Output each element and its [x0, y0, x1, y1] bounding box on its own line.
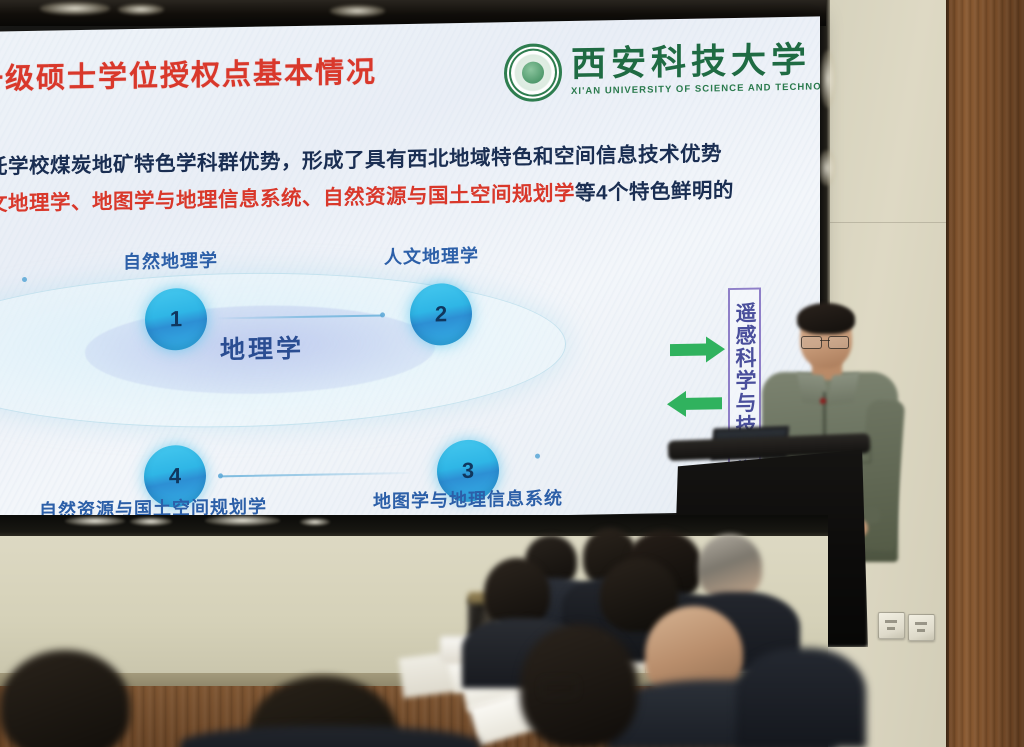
audience-glasses-icon	[540, 678, 578, 698]
slide-body-highlight: 人文地理学、地图学与地理信息系统、自然资源与国土空间规划学	[0, 182, 575, 216]
slide-title: 一级硕士学位授权点基本情况	[0, 49, 377, 98]
diagram-node-3-label: 地图学与地理信息系统	[373, 484, 563, 513]
diagram-node-2-label: 人文地理学	[384, 242, 479, 270]
geography-discipline-diagram: 地理学 1 2 3 4 自然地理学 人文地理学 地图学与地理信息系统 自然资源与…	[0, 215, 692, 518]
wall-outlet[interactable]	[878, 612, 905, 639]
ceiling-glint	[118, 4, 164, 15]
connector-dot	[218, 473, 223, 478]
presenter-shirt-button	[820, 398, 826, 404]
university-logo: 西安科技大学 XI'AN UNIVERSITY OF SCIENCE AND T…	[504, 38, 820, 102]
arrow-left-icon	[686, 397, 722, 410]
slide-body-line-1: 依托学校煤炭地矿特色学科群优势，形成了具有西北地域特色和空间信息技术优势	[0, 136, 722, 180]
slide-body-line2-suffix: 等4个特色鲜明的	[575, 179, 734, 205]
university-seal-icon	[504, 43, 562, 102]
lower-glint	[205, 515, 280, 526]
ceiling-glint	[820, 50, 836, 108]
audience-member-head	[698, 534, 762, 600]
audience-member-shoulder	[736, 648, 866, 747]
connector-dot	[22, 277, 27, 282]
ceiling-glint	[818, 150, 836, 186]
logo-text: 西安科技大学 XI'AN UNIVERSITY OF SCIENCE AND T…	[571, 42, 820, 97]
logo-chinese-name: 西安科技大学	[571, 42, 820, 82]
wood-column-edge	[946, 0, 949, 747]
arrow-right-icon	[670, 344, 706, 357]
connector-dot	[535, 454, 540, 459]
connector-bottom	[220, 472, 410, 477]
ceiling-glint	[40, 2, 110, 15]
wall-seam	[826, 222, 948, 223]
audience-member-head	[520, 624, 638, 747]
screenshot-stage: 一级硕士学位授权点基本情况 西安科技大学 XI'AN UNIVERSITY OF…	[0, 0, 1024, 747]
slide-body-line-2: 人文地理学、地图学与地理信息系统、自然资源与国土空间规划学等4个特色鲜明的	[0, 173, 734, 217]
presenter-glasses-icon	[801, 336, 849, 347]
lower-glint	[300, 518, 330, 526]
wood-column	[946, 0, 1024, 747]
ceiling-glint	[330, 5, 385, 17]
lower-glint	[65, 516, 125, 526]
diagram-node-1-label: 自然地理学	[123, 246, 218, 274]
lower-glint	[130, 517, 172, 526]
presenter-hair	[797, 303, 855, 334]
wall-outlet[interactable]	[908, 614, 935, 641]
